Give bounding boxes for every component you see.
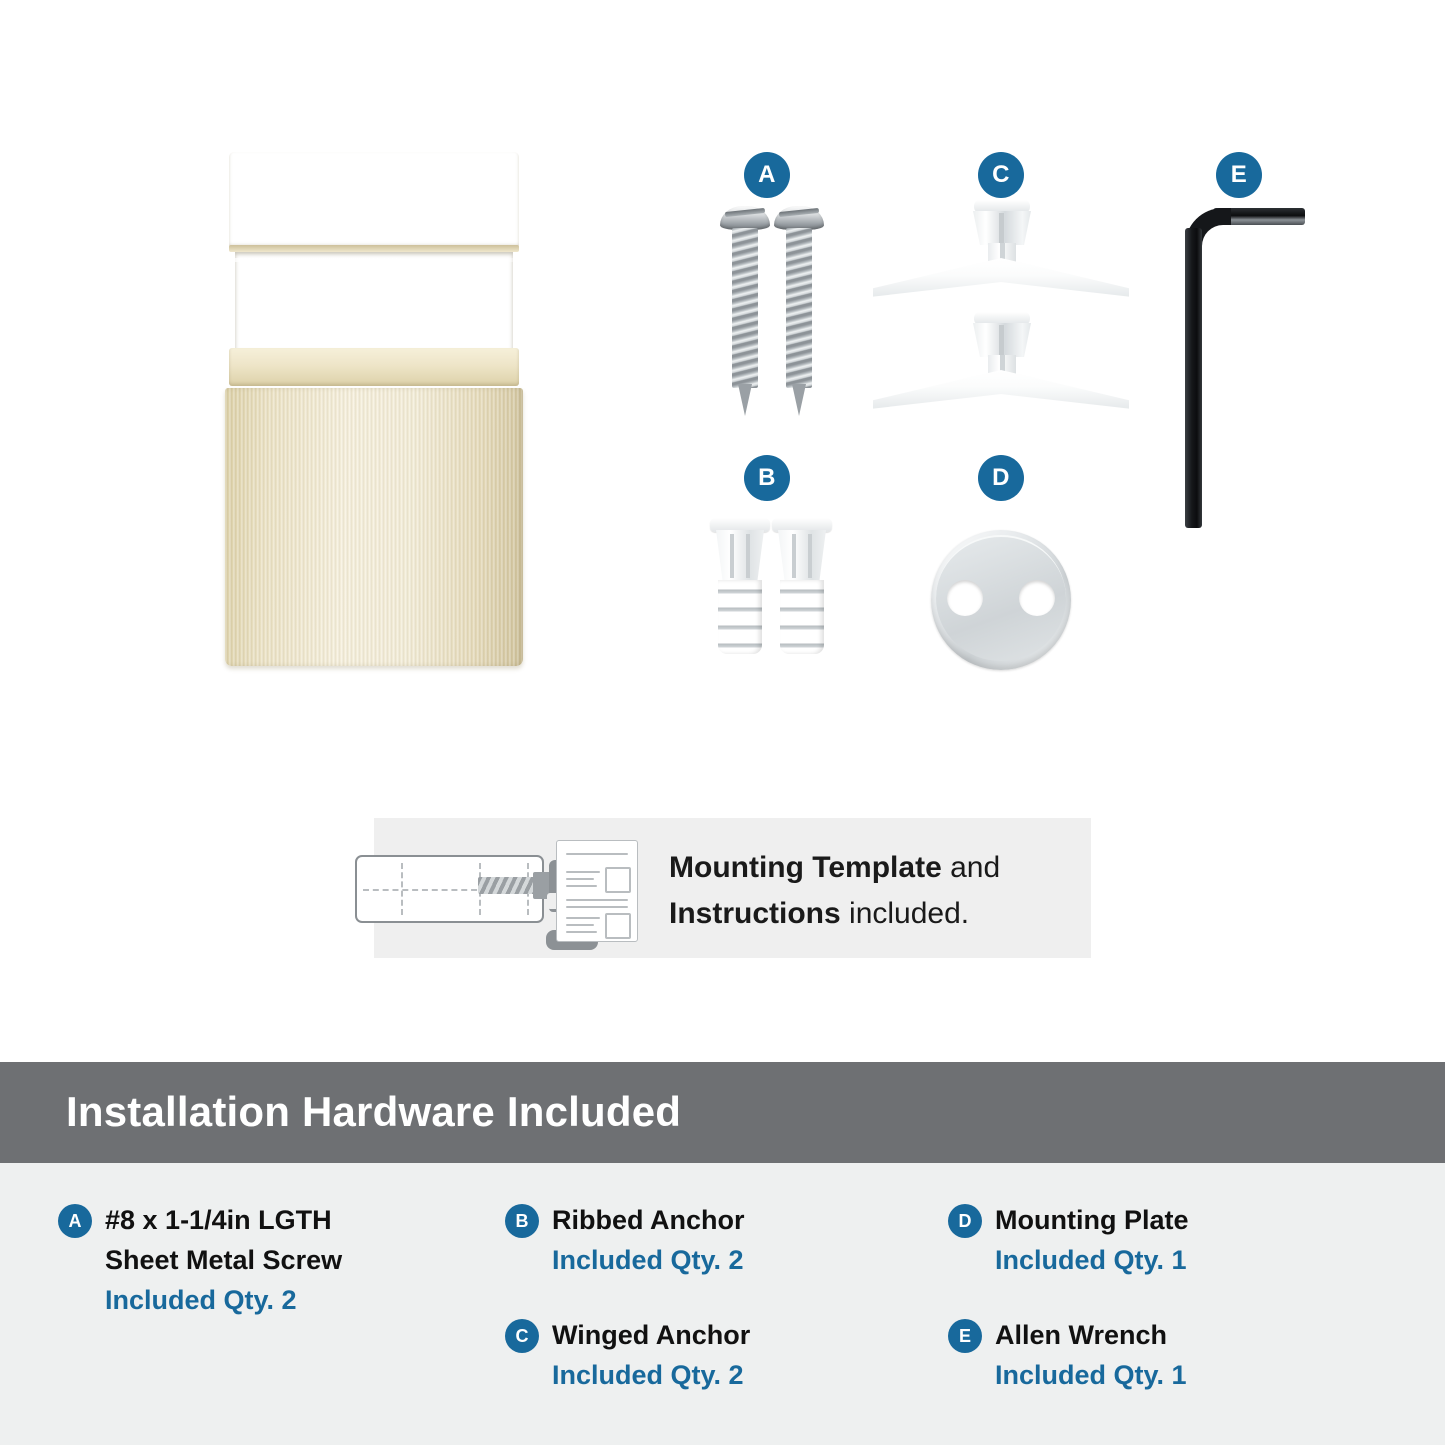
legend-name-e: Allen Wrench [995, 1315, 1187, 1355]
anchor-wing-right [1001, 258, 1129, 300]
legend-text-e: Allen Wrench Included Qty. 1 [995, 1315, 1187, 1395]
screw-shaft [732, 228, 758, 388]
winged-anchor-2 [873, 312, 1129, 412]
legend-text-d: Mounting Plate Included Qty. 1 [995, 1200, 1188, 1280]
callout-badge-e: E [1216, 152, 1262, 198]
plate-hole-left [947, 580, 983, 616]
legend-qty-a: Included Qty. 2 [105, 1280, 342, 1320]
anchor-wing-right [1001, 370, 1129, 412]
legend-text-a: #8 x 1-1/4in LGTH Sheet Metal Screw Incl… [105, 1200, 342, 1320]
anchor-flange [772, 518, 832, 532]
legend-qty-c: Included Qty. 2 [552, 1355, 750, 1395]
template-text-line-1: Mounting Template and [669, 845, 1089, 891]
anchor-collar [973, 211, 1031, 245]
anchor-flange [710, 518, 770, 532]
screw-tip [738, 384, 752, 416]
product-knob-image [221, 152, 526, 667]
section-title: Installation Hardware Included [66, 1088, 681, 1136]
anchor-cone [778, 530, 826, 582]
winged-anchor-1 [873, 200, 1129, 300]
template-vertical-guide-1 [401, 863, 403, 915]
ribbed-anchor-1 [713, 518, 767, 666]
legend-qty-b: Included Qty. 2 [552, 1240, 745, 1280]
knob-top-face [229, 152, 519, 247]
section-header-bar: Installation Hardware Included [0, 1062, 1445, 1163]
drill-bit-icon [478, 877, 536, 894]
callout-badge-c: C [978, 152, 1024, 198]
doc-line [566, 878, 594, 880]
plate-hole-right [1019, 580, 1055, 616]
screw-tip [792, 384, 806, 416]
legend-badge-c: C [505, 1319, 539, 1353]
legend-badge-e: E [948, 1319, 982, 1353]
legend-name-c: Winged Anchor [552, 1315, 750, 1355]
anchor-ribs [780, 580, 824, 654]
knob-body [225, 388, 523, 666]
legend-item-d: D Mounting Plate Included Qty. 1 [948, 1200, 1328, 1280]
doc-line [566, 931, 597, 933]
template-text-bold-2: Instructions [669, 897, 841, 930]
doc-box [605, 867, 631, 893]
ribbed-anchor-2 [775, 518, 829, 666]
legend-item-c: C Winged Anchor Included Qty. 2 [505, 1315, 885, 1395]
legend-text-b: Ribbed Anchor Included Qty. 2 [552, 1200, 745, 1280]
anchor-cone [716, 530, 764, 582]
legend-badge-a: A [58, 1204, 92, 1238]
legend-item-b: B Ribbed Anchor Included Qty. 2 [505, 1200, 885, 1280]
doc-line [566, 899, 628, 901]
legend-name-a-line1: #8 x 1-1/4in LGTH [105, 1200, 342, 1240]
legend-badge-d: D [948, 1204, 982, 1238]
wrench-long-arm [1185, 228, 1202, 528]
screw-shaft [786, 228, 812, 388]
anchor-collar [973, 323, 1031, 357]
template-text-rest-1: and [942, 851, 1000, 884]
template-text-rest-2: included. [841, 897, 969, 930]
template-text-bold-1: Mounting Template [669, 851, 942, 884]
legend-name-b: Ribbed Anchor [552, 1200, 745, 1240]
screw-2 [780, 206, 818, 416]
legend-qty-d: Included Qty. 1 [995, 1240, 1188, 1280]
callout-badge-a: A [744, 152, 790, 198]
legend-name-d: Mounting Plate [995, 1200, 1188, 1240]
anchor-ribs [718, 580, 762, 654]
legend-item-e: E Allen Wrench Included Qty. 1 [948, 1315, 1328, 1395]
doc-line [566, 924, 594, 926]
instructions-document-icon [556, 840, 638, 942]
knob-lip [229, 348, 519, 386]
legend-badge-b: B [505, 1204, 539, 1238]
legend-name-a-line2: Sheet Metal Screw [105, 1240, 342, 1280]
allen-wrench-image [1185, 200, 1305, 530]
doc-line [566, 906, 628, 908]
template-text-line-2: Instructions included. [669, 891, 1089, 937]
doc-line [566, 885, 597, 887]
mounting-template-text: Mounting Template and Instructions inclu… [669, 845, 1089, 937]
doc-line [566, 871, 600, 873]
callout-badge-b: B [744, 455, 790, 501]
legend-item-a: A #8 x 1-1/4in LGTH Sheet Metal Screw In… [58, 1200, 458, 1320]
doc-line [566, 853, 628, 855]
legend-text-c: Winged Anchor Included Qty. 2 [552, 1315, 750, 1395]
knob-recess-band [235, 252, 513, 350]
anchor-wing-left [873, 258, 1001, 300]
mounting-plate-image [931, 530, 1071, 670]
callout-badge-d: D [978, 455, 1024, 501]
anchor-wing-left [873, 370, 1001, 412]
screw-1 [726, 206, 764, 416]
doc-line [566, 917, 600, 919]
legend-qty-e: Included Qty. 1 [995, 1355, 1187, 1395]
doc-box [605, 913, 631, 939]
installation-hardware-diagram: A C E B [0, 0, 1445, 1445]
